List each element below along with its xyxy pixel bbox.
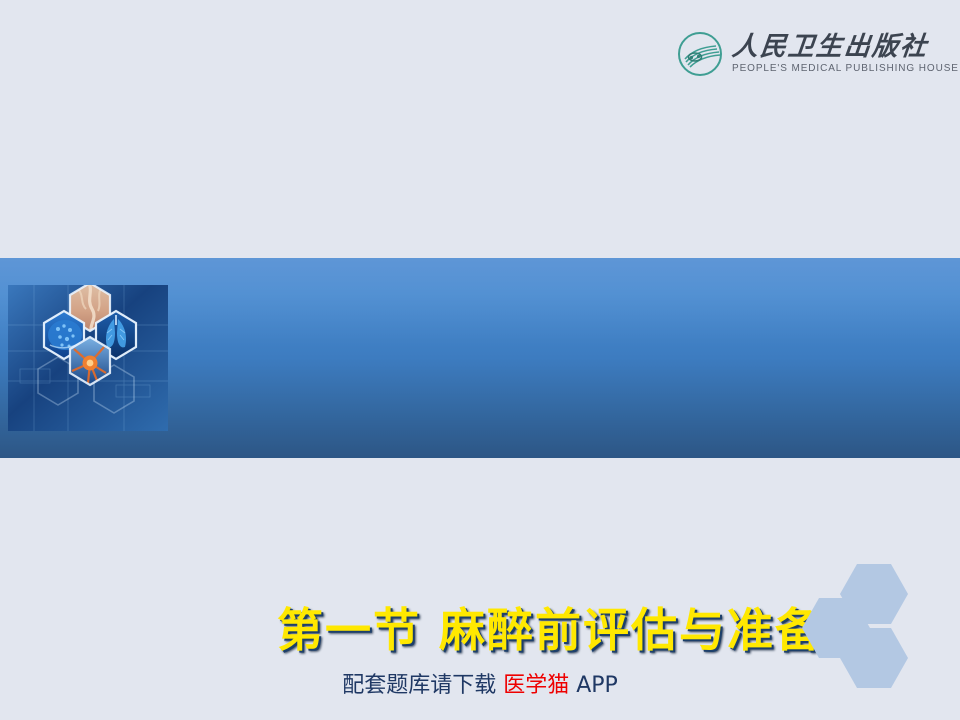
medical-hexagon-collage-image (8, 285, 168, 431)
hexagon-decoration-group (786, 552, 936, 678)
circular-wave-emblem-icon (676, 30, 724, 78)
footer-promo-text: 配套题库请下载 医学猫 APP (0, 670, 960, 702)
publisher-name-en: PEOPLE'S MEDICAL PUBLISHING HOUSE (732, 64, 959, 74)
publisher-name-cn: 人民卫生出版社 (731, 34, 960, 61)
publisher-name-block: 人民卫生出版社 PEOPLE'S MEDICAL PUBLISHING HOUS… (732, 34, 959, 73)
footer-promo-brand: 医学猫 (503, 673, 569, 698)
publisher-logo: 人民卫生出版社 PEOPLE'S MEDICAL PUBLISHING HOUS… (676, 24, 924, 84)
footer-promo-prefix: 配套题库请下载 (342, 673, 503, 698)
slide-canvas: 人民卫生出版社 PEOPLE'S MEDICAL PUBLISHING HOUS… (0, 0, 960, 720)
title-band: 第一节 麻醉前评估与准备 (0, 258, 960, 458)
footer-promo-suffix: APP (569, 673, 618, 698)
